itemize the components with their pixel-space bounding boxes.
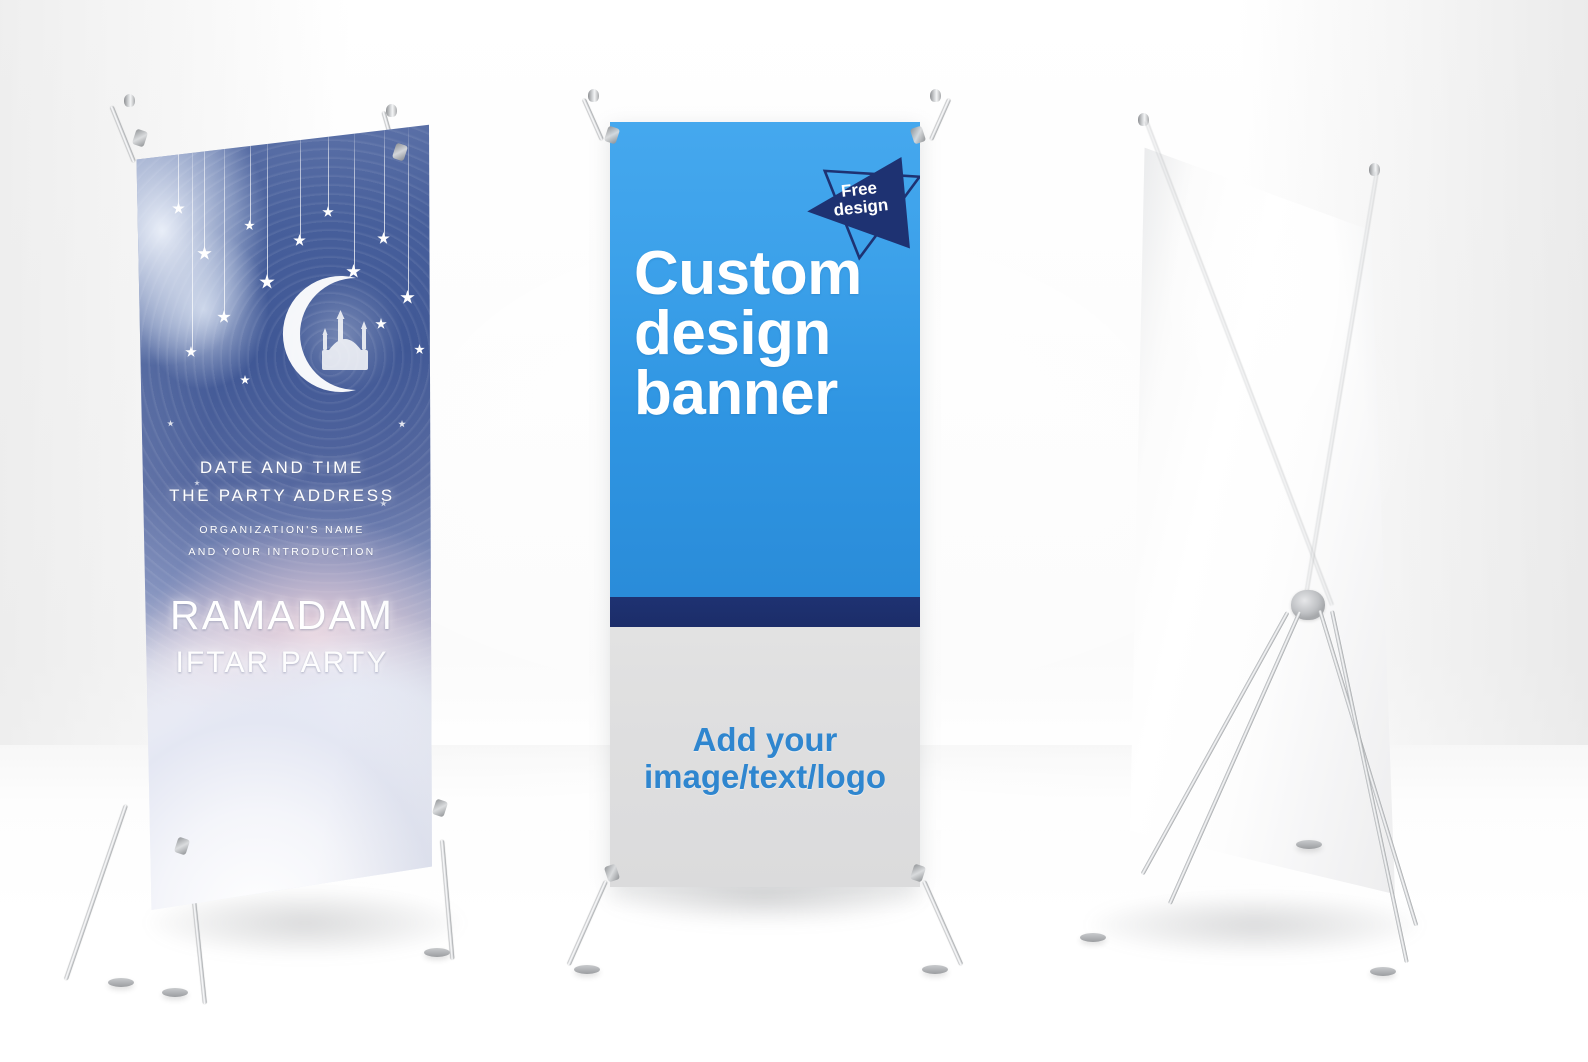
stand-foot-left-front — [162, 988, 188, 997]
stand-leg-right — [922, 880, 963, 966]
hanging-star — [400, 290, 415, 305]
hanging-thread — [354, 120, 355, 270]
stand-mast-cap-left — [588, 89, 599, 102]
hanging-star — [398, 420, 406, 428]
custom-design-banner-stand[interactable]: Free design Custom design banner Add you… — [560, 95, 980, 975]
hanging-thread — [267, 120, 268, 280]
placeholder-line-1: Add your — [610, 722, 920, 759]
stand-mast-right — [929, 98, 951, 141]
hanging-thread — [328, 120, 329, 212]
corner-hook — [132, 129, 148, 148]
stand-mast-cap-right — [930, 89, 941, 102]
introduction-line: AND YOUR INTRODUCTION — [132, 546, 432, 558]
banner-mockup-scene: DATE AND TIME THE PARTY ADDRESS ORGANIZA… — [0, 0, 1588, 1062]
hanging-star — [322, 206, 334, 218]
crescent-moon-with-mosque-icon — [282, 272, 402, 397]
blank-banner-stand[interactable] — [1060, 95, 1480, 995]
ramadan-headline: RAMADAM — [132, 592, 432, 639]
placeholder-line-2: image/text/logo — [610, 759, 920, 796]
hanging-star — [172, 202, 185, 215]
hanging-star — [197, 246, 212, 261]
hanging-star — [293, 234, 306, 247]
stand-mast-left — [110, 106, 136, 163]
hanging-star — [217, 310, 231, 324]
placeholder-text: Add your image/text/logo — [610, 722, 920, 796]
ramadan-subheadline: IFTAR PARTY — [132, 646, 432, 680]
hanging-thread — [224, 120, 225, 316]
event-date-line: DATE AND TIME — [132, 458, 432, 478]
stand-mast-cap-left — [124, 94, 135, 107]
stand-foot-left — [1080, 933, 1106, 942]
stand-mast-cap-right — [386, 104, 397, 117]
headline-line-2: design — [634, 304, 909, 364]
hanging-thread — [408, 120, 409, 296]
hanging-star — [414, 344, 425, 355]
banner-headline: Custom design banner — [634, 244, 909, 424]
hanging-star — [240, 375, 250, 385]
hanging-thread — [384, 120, 385, 238]
hanging-thread — [178, 120, 179, 206]
hanging-thread — [192, 120, 193, 352]
stand-mast-left — [582, 98, 604, 141]
fabric-folds — [1130, 120, 1395, 910]
hanging-star — [259, 274, 275, 290]
stand-foot-right-rear — [1296, 840, 1322, 849]
hanging-thread — [250, 120, 251, 226]
ramadan-banner-surface[interactable]: DATE AND TIME THE PARTY ADDRESS ORGANIZA… — [132, 120, 432, 910]
stand-foot-right-front — [1370, 967, 1396, 976]
hanging-star — [167, 420, 174, 427]
hanging-star — [377, 232, 390, 245]
stand-foot-left — [574, 965, 600, 974]
headline-line-1: Custom — [634, 244, 909, 304]
hanging-star — [185, 346, 197, 358]
organization-line: ORGANIZATION'S NAME — [132, 524, 432, 536]
corner-hook — [432, 799, 448, 818]
ramadan-banner-stand[interactable]: DATE AND TIME THE PARTY ADDRESS ORGANIZA… — [110, 100, 510, 1030]
blank-banner-surface[interactable] — [1130, 120, 1395, 910]
headline-line-3: banner — [634, 364, 909, 424]
stand-pole-right — [440, 840, 454, 960]
stand-leg-left — [567, 880, 608, 966]
banner-navy-stripe — [610, 597, 920, 627]
stand-foot-right — [922, 965, 948, 974]
stand-shadow — [1090, 895, 1420, 955]
stand-foot-left-rear — [108, 978, 134, 987]
hanging-thread — [300, 120, 301, 240]
hanging-star — [244, 220, 255, 231]
stand-foot-right — [424, 948, 450, 957]
hanging-thread — [204, 120, 205, 252]
event-address-line: THE PARTY ADDRESS — [132, 486, 432, 506]
custom-design-banner-surface[interactable]: Free design Custom design banner Add you… — [610, 122, 920, 887]
